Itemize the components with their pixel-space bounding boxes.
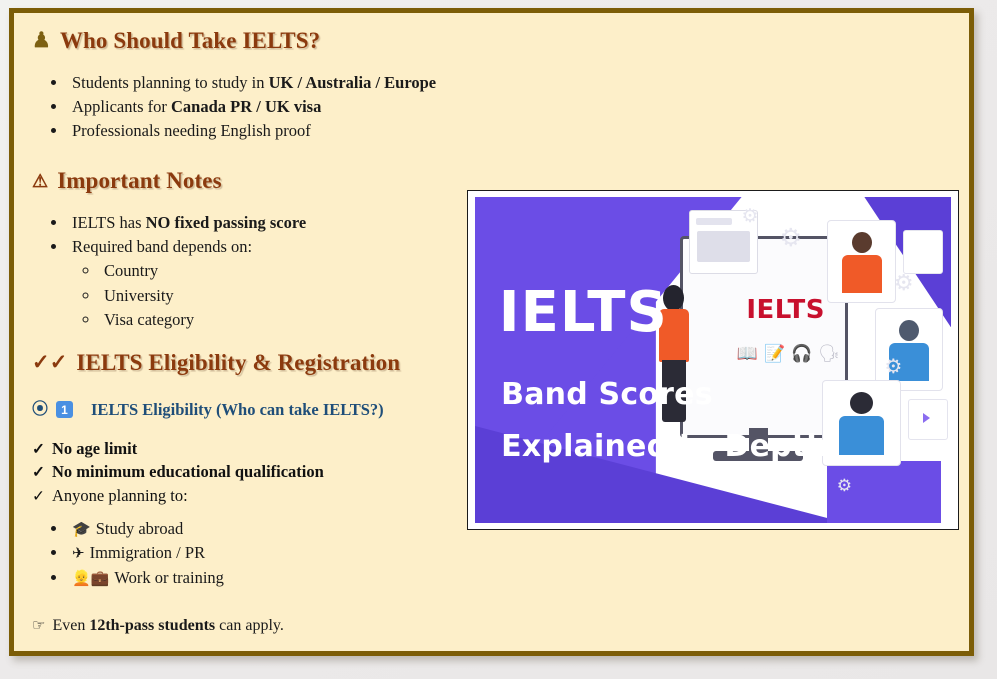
check-icon: ✓ (32, 442, 45, 458)
avatar-head (899, 320, 919, 341)
list-item-bold: Canada PR / UK visa (171, 97, 321, 116)
who-should-take-list: Students planning to study in UK / Austr… (32, 71, 574, 144)
banner-title: IELTS (499, 285, 668, 341)
map-card-globe (697, 231, 750, 262)
check-line-label: No age limit (52, 437, 137, 460)
list-item-prefix: Required band depends on: (72, 237, 252, 256)
pointing-hand-icon: ☞ (32, 619, 45, 634)
list-item: 👱💼 Work or training (68, 566, 574, 590)
list-item-prefix: Applicants for (72, 97, 171, 116)
mini-window-top (903, 230, 943, 274)
map-card-bar (696, 218, 733, 224)
airplane-icon: ✈ (72, 547, 85, 562)
banner-subtitle-line-2: Explained In-Depth (501, 432, 828, 462)
student-card-middle-right (875, 308, 944, 392)
gear-icon: ⚙ (780, 226, 802, 251)
check-line-label: Anyone planning to: (52, 484, 188, 507)
headphones-icon: 🎧 (791, 344, 812, 364)
avatar-head (850, 392, 873, 414)
note-12th-pass: ☞ Even 12th-pass students can apply. (32, 614, 574, 637)
skill-icons-row: 📖 📝 🎧 🗣 (737, 344, 842, 364)
list-item-prefix: Professionals needing English proof (72, 121, 311, 140)
list-item: Students planning to study in UK / Austr… (68, 71, 574, 95)
gear-icon: ⚙ (884, 357, 902, 377)
avatar-body (842, 255, 882, 292)
check-icon: ✓ (32, 465, 45, 481)
mini-window-bottom (908, 399, 948, 440)
person-briefcase-icon: 👱💼 (72, 572, 109, 587)
list-item: ✈ Immigration / PR (68, 541, 574, 565)
note-suffix: can apply. (215, 617, 284, 634)
speaking-icon: 🗣 (818, 344, 840, 364)
gear-icon: ⚙ (742, 207, 759, 226)
purpose-label: Immigration / PR (90, 541, 206, 565)
note-bold: 12th-pass students (89, 617, 215, 634)
document-body: ♟ Who Should Take IELTS? Students planni… (14, 13, 969, 651)
document-frame: ♟ Who Should Take IELTS? Students planni… (9, 8, 974, 656)
ielts-banner-image: IELTS 📖 📝 🎧 🗣 (467, 190, 959, 530)
student-card-top-right (827, 220, 896, 304)
section-title: Important Notes (57, 167, 221, 195)
warning-triangle-icon: ⚠ (32, 172, 48, 190)
avatar-head (852, 232, 872, 253)
double-check-icon: ✓✓ (32, 352, 67, 373)
subheading-label: IELTS Eligibility (Who can take IELTS?) (91, 400, 384, 420)
check-icon: ✓ (32, 489, 45, 505)
graduation-cap-icon: 🎓 (72, 523, 91, 538)
gear-icon: ⚙ (894, 272, 914, 294)
section-title: Who Should Take IELTS? (60, 27, 320, 55)
check-line-label: No minimum educational qualification (52, 460, 324, 483)
play-icon (923, 413, 930, 423)
banner-illustration: IELTS 📖 📝 🎧 🗣 (475, 197, 951, 523)
list-item: Professionals needing English proof (68, 119, 574, 143)
list-item-prefix: Students planning to study in (72, 73, 269, 92)
list-item-bold: UK / Australia / Europe (269, 73, 436, 92)
purpose-label: Work or training (114, 566, 224, 590)
dart-target-icon: ⦿ (32, 402, 48, 418)
purpose-label: Study abroad (96, 517, 184, 541)
list-item: Applicants for Canada PR / UK visa (68, 95, 574, 119)
gear-icon: ⚙ (837, 477, 852, 494)
avatar-body (839, 416, 885, 455)
list-item-prefix: IELTS has (72, 213, 146, 232)
writing-icon: 📝 (764, 344, 785, 364)
list-item-bold: NO fixed passing score (146, 213, 307, 232)
student-card-bottom-right (822, 380, 900, 467)
bust-icon: ♟ (32, 30, 51, 51)
section-title: IELTS Eligibility & Registration (76, 349, 400, 377)
screen-ielts-label: IELTS (746, 295, 825, 325)
note-prefix: Even (52, 617, 89, 634)
banner-subtitle-line-1: Band Scores (501, 380, 713, 410)
section-heading-who-should-take: ♟ Who Should Take IELTS? (32, 27, 574, 55)
keycap-one-icon: 1 (56, 401, 73, 418)
book-icon: 📖 (737, 344, 758, 364)
